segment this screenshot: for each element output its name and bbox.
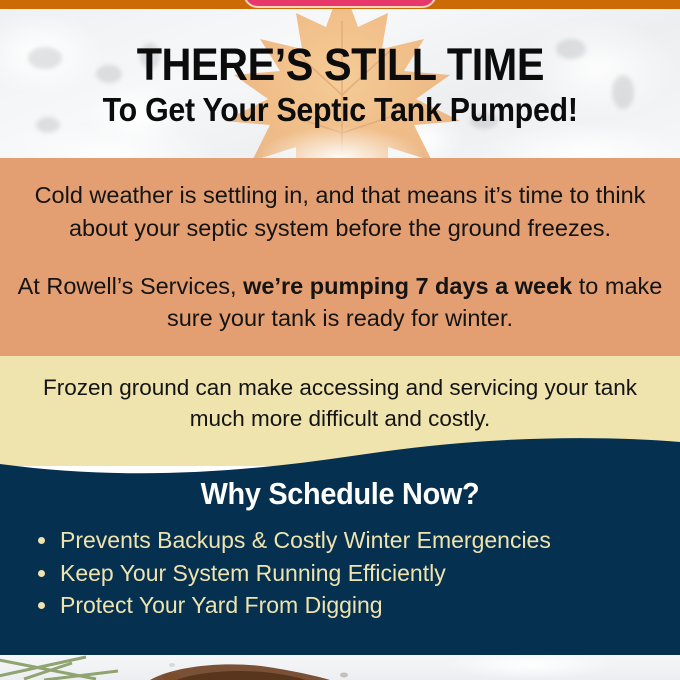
list-item-label: Prevents Backups & Costly Winter Emergen… <box>60 527 551 553</box>
promotional-flyer: THERE’S STILL TIME To Get Your Septic Ta… <box>0 0 680 680</box>
list-item: Keep Your System Running Efficiently <box>34 557 680 590</box>
benefits-content: Why Schedule Now? Prevents Backups & Cos… <box>0 430 680 622</box>
footer-photo <box>0 655 680 680</box>
bullet-dot-icon <box>38 602 45 609</box>
footer-grass-and-dirt-icon <box>0 655 680 680</box>
headline-primary: THERE’S STILL TIME <box>136 42 543 87</box>
bullet-dot-icon <box>38 537 45 544</box>
paragraph2-prefix: At Rowell’s Services, <box>18 273 244 299</box>
list-item: Prevents Backups & Costly Winter Emergen… <box>34 524 680 557</box>
paragraph2-emphasis: we’re pumping 7 days a week <box>243 273 572 299</box>
intro-paragraph-1: Cold weather is settling in, and that me… <box>14 179 666 244</box>
benefits-list: Prevents Backups & Costly Winter Emergen… <box>0 524 680 622</box>
top-cta-pill-button[interactable] <box>243 0 437 8</box>
benefits-navy-section: Why Schedule Now? Prevents Backups & Cos… <box>0 430 680 655</box>
list-item-label: Protect Your Yard From Digging <box>60 592 383 618</box>
header-banner: THERE’S STILL TIME To Get Your Septic Ta… <box>0 9 680 158</box>
intro-paragraph-2: At Rowell’s Services, we’re pumping 7 da… <box>14 270 666 335</box>
intro-orange-section: Cold weather is settling in, and that me… <box>0 158 680 356</box>
headline-secondary: To Get Your Septic Tank Pumped! <box>102 93 577 126</box>
benefits-heading: Why Schedule Now? <box>24 476 656 512</box>
warning-paragraph: Frozen ground can make accessing and ser… <box>20 372 659 434</box>
header-text-block: THERE’S STILL TIME To Get Your Septic Ta… <box>0 9 680 158</box>
list-item-label: Keep Your System Running Efficiently <box>60 560 446 586</box>
list-item: Protect Your Yard From Digging <box>34 589 680 622</box>
bullet-dot-icon <box>38 570 45 577</box>
